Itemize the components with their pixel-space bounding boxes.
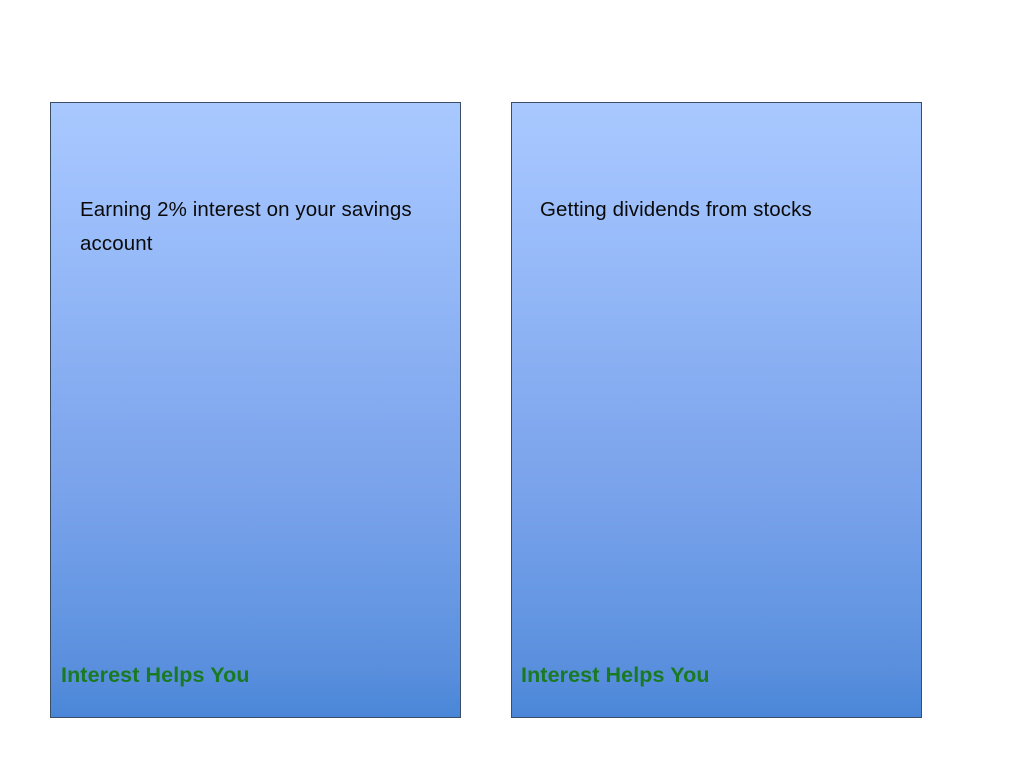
card-footer-heading: Interest Helps You — [61, 663, 441, 688]
card-footer-heading: Interest Helps You — [521, 663, 901, 688]
content-card-savings-interest[interactable]: Earning 2% interest on your savings acco… — [50, 102, 461, 718]
card-body-text: Getting dividends from stocks — [540, 193, 910, 227]
content-card-stock-dividends[interactable]: Getting dividends from stocks Interest H… — [511, 102, 922, 718]
slide-canvas: Earning 2% interest on your savings acco… — [0, 0, 1024, 768]
card-body-text: Earning 2% interest on your savings acco… — [80, 193, 420, 261]
